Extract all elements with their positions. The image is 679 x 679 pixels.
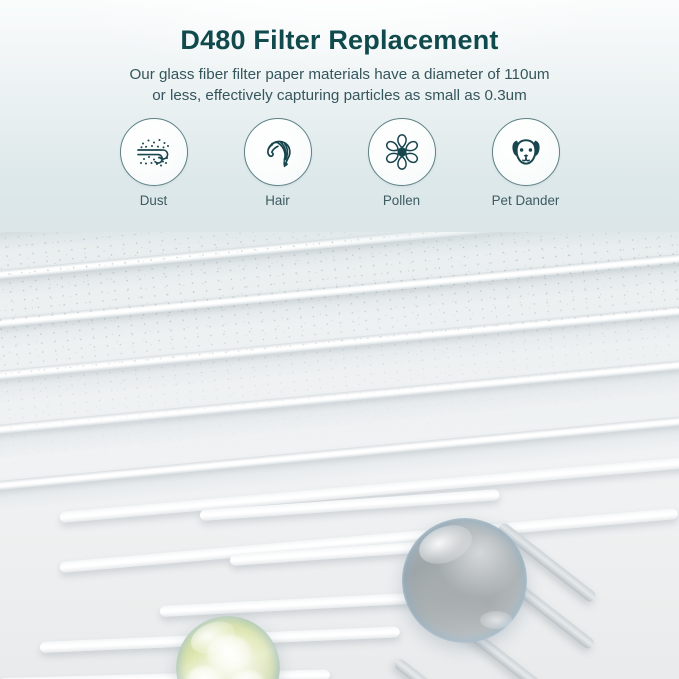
filter-photo	[0, 210, 679, 679]
feature-dust: Dust	[119, 118, 189, 208]
pet-dander-icon-circle	[492, 118, 560, 186]
pet-dander-icon	[503, 129, 549, 175]
dust-icon-circle	[120, 118, 188, 186]
dust-icon	[132, 130, 176, 174]
feature-label-pollen: Pollen	[383, 193, 420, 208]
product-infographic: D480 Filter Replacement Our glass fiber …	[0, 0, 679, 679]
page-title: D480 Filter Replacement	[0, 25, 679, 56]
bubble-highlight-secondary	[480, 611, 513, 630]
feature-pet-dander: Pet Dander	[491, 118, 561, 208]
filter-pleat-edge	[60, 508, 679, 573]
hair-icon	[255, 129, 301, 175]
dust-bubble	[402, 518, 527, 643]
feature-label-hair: Hair	[265, 193, 290, 208]
feature-icon-row: Dust	[0, 118, 679, 208]
filter-pleat-edge	[60, 456, 679, 523]
subtitle-line-1: Our glass fiber filter paper materials h…	[129, 66, 549, 83]
feature-label-pet-dander: Pet Dander	[492, 193, 560, 208]
pollen-icon	[379, 129, 425, 175]
header-panel: D480 Filter Replacement Our glass fiber …	[0, 0, 679, 232]
pollen-icon-circle	[368, 118, 436, 186]
feature-hair: Hair	[243, 118, 313, 208]
subtitle-line-2: or less, effectively capturing particles…	[0, 85, 679, 106]
filter-pleat-edge	[0, 669, 330, 679]
hair-icon-circle	[244, 118, 312, 186]
page-subtitle: Our glass fiber filter paper materials h…	[0, 64, 679, 106]
feature-label-dust: Dust	[140, 193, 168, 208]
filter-pleat-edge-tip	[393, 657, 494, 679]
feature-pollen: Pollen	[367, 118, 437, 208]
filter-pleats-lower	[0, 210, 679, 679]
